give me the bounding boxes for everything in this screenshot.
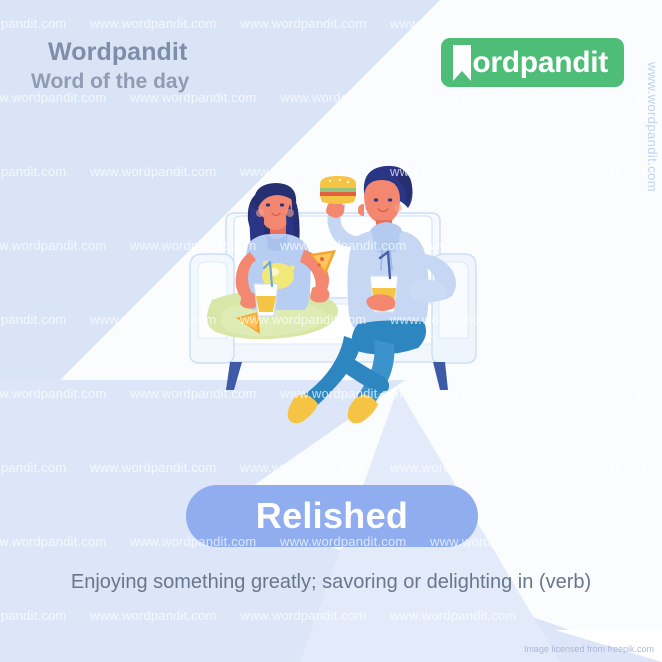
bookmark-icon bbox=[451, 45, 473, 81]
word-definition: Enjoying something greatly; savoring or … bbox=[0, 571, 662, 594]
wordpandit-logo[interactable]: ordpandit bbox=[441, 38, 624, 87]
page-title: Wordpandit bbox=[48, 38, 187, 67]
word-badge[interactable]: Relished bbox=[186, 485, 478, 547]
word-term: Relished bbox=[256, 495, 408, 537]
image-credit: Image licensed from freepik.com bbox=[524, 644, 654, 654]
logo-text: ordpandit bbox=[472, 48, 608, 78]
illustration-couple-eating bbox=[186, 158, 478, 430]
page-subtitle: Word of the day bbox=[31, 70, 189, 94]
word-of-the-day-card: Wordpandit Word of the day ordpandit Rel… bbox=[0, 0, 662, 662]
